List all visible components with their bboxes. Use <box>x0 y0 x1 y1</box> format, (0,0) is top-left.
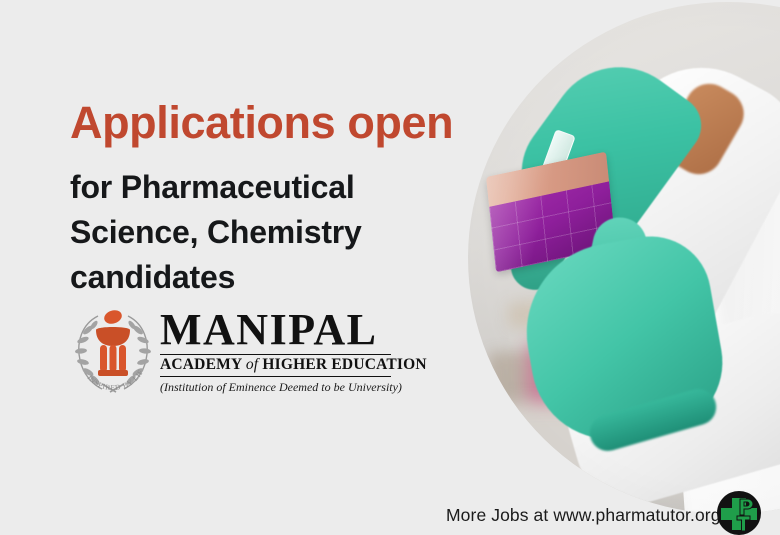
subtitle-block: for Pharmaceutical Science, Chemistry ca… <box>70 165 362 300</box>
manipal-wordmark: MANIPAL ACADEMY of HIGHER EDUCATION (Ins… <box>160 308 390 395</box>
subtitle-line-3: candidates <box>70 255 362 300</box>
wordmark-rule-bottom <box>160 376 391 377</box>
wordmark-subline: ACADEMY of HIGHER EDUCATION <box>160 355 390 374</box>
photo-background <box>468 2 780 514</box>
manipal-logo: INSPIRED BY LIFE MANIPAL ACADEMY of HIGH… <box>68 304 390 400</box>
wordmark-main: MANIPAL <box>160 308 390 352</box>
wordmark-academy: ACADEMY <box>160 356 246 373</box>
wordmark-of: of <box>246 356 263 373</box>
subtitle-line-1: for Pharmaceutical <box>70 165 362 210</box>
manipal-flame-laurel-emblem: INSPIRED BY LIFE <box>68 304 158 396</box>
poster-canvas: Applications open for Pharmaceutical Sci… <box>0 0 780 535</box>
pharmatutor-logo[interactable] <box>716 490 762 535</box>
subtitle-line-2: Science, Chemistry <box>70 210 362 255</box>
wordmark-higher-education: HIGHER EDUCATION <box>262 356 426 373</box>
wordmark-tagline: (Institution of Eminence Deemed to be Un… <box>160 380 390 395</box>
page-title: Applications open <box>70 99 453 146</box>
lab-scientist-holding-microplate-photo <box>468 2 780 514</box>
footer-text: More Jobs at www.pharmatutor.org <box>446 505 721 526</box>
